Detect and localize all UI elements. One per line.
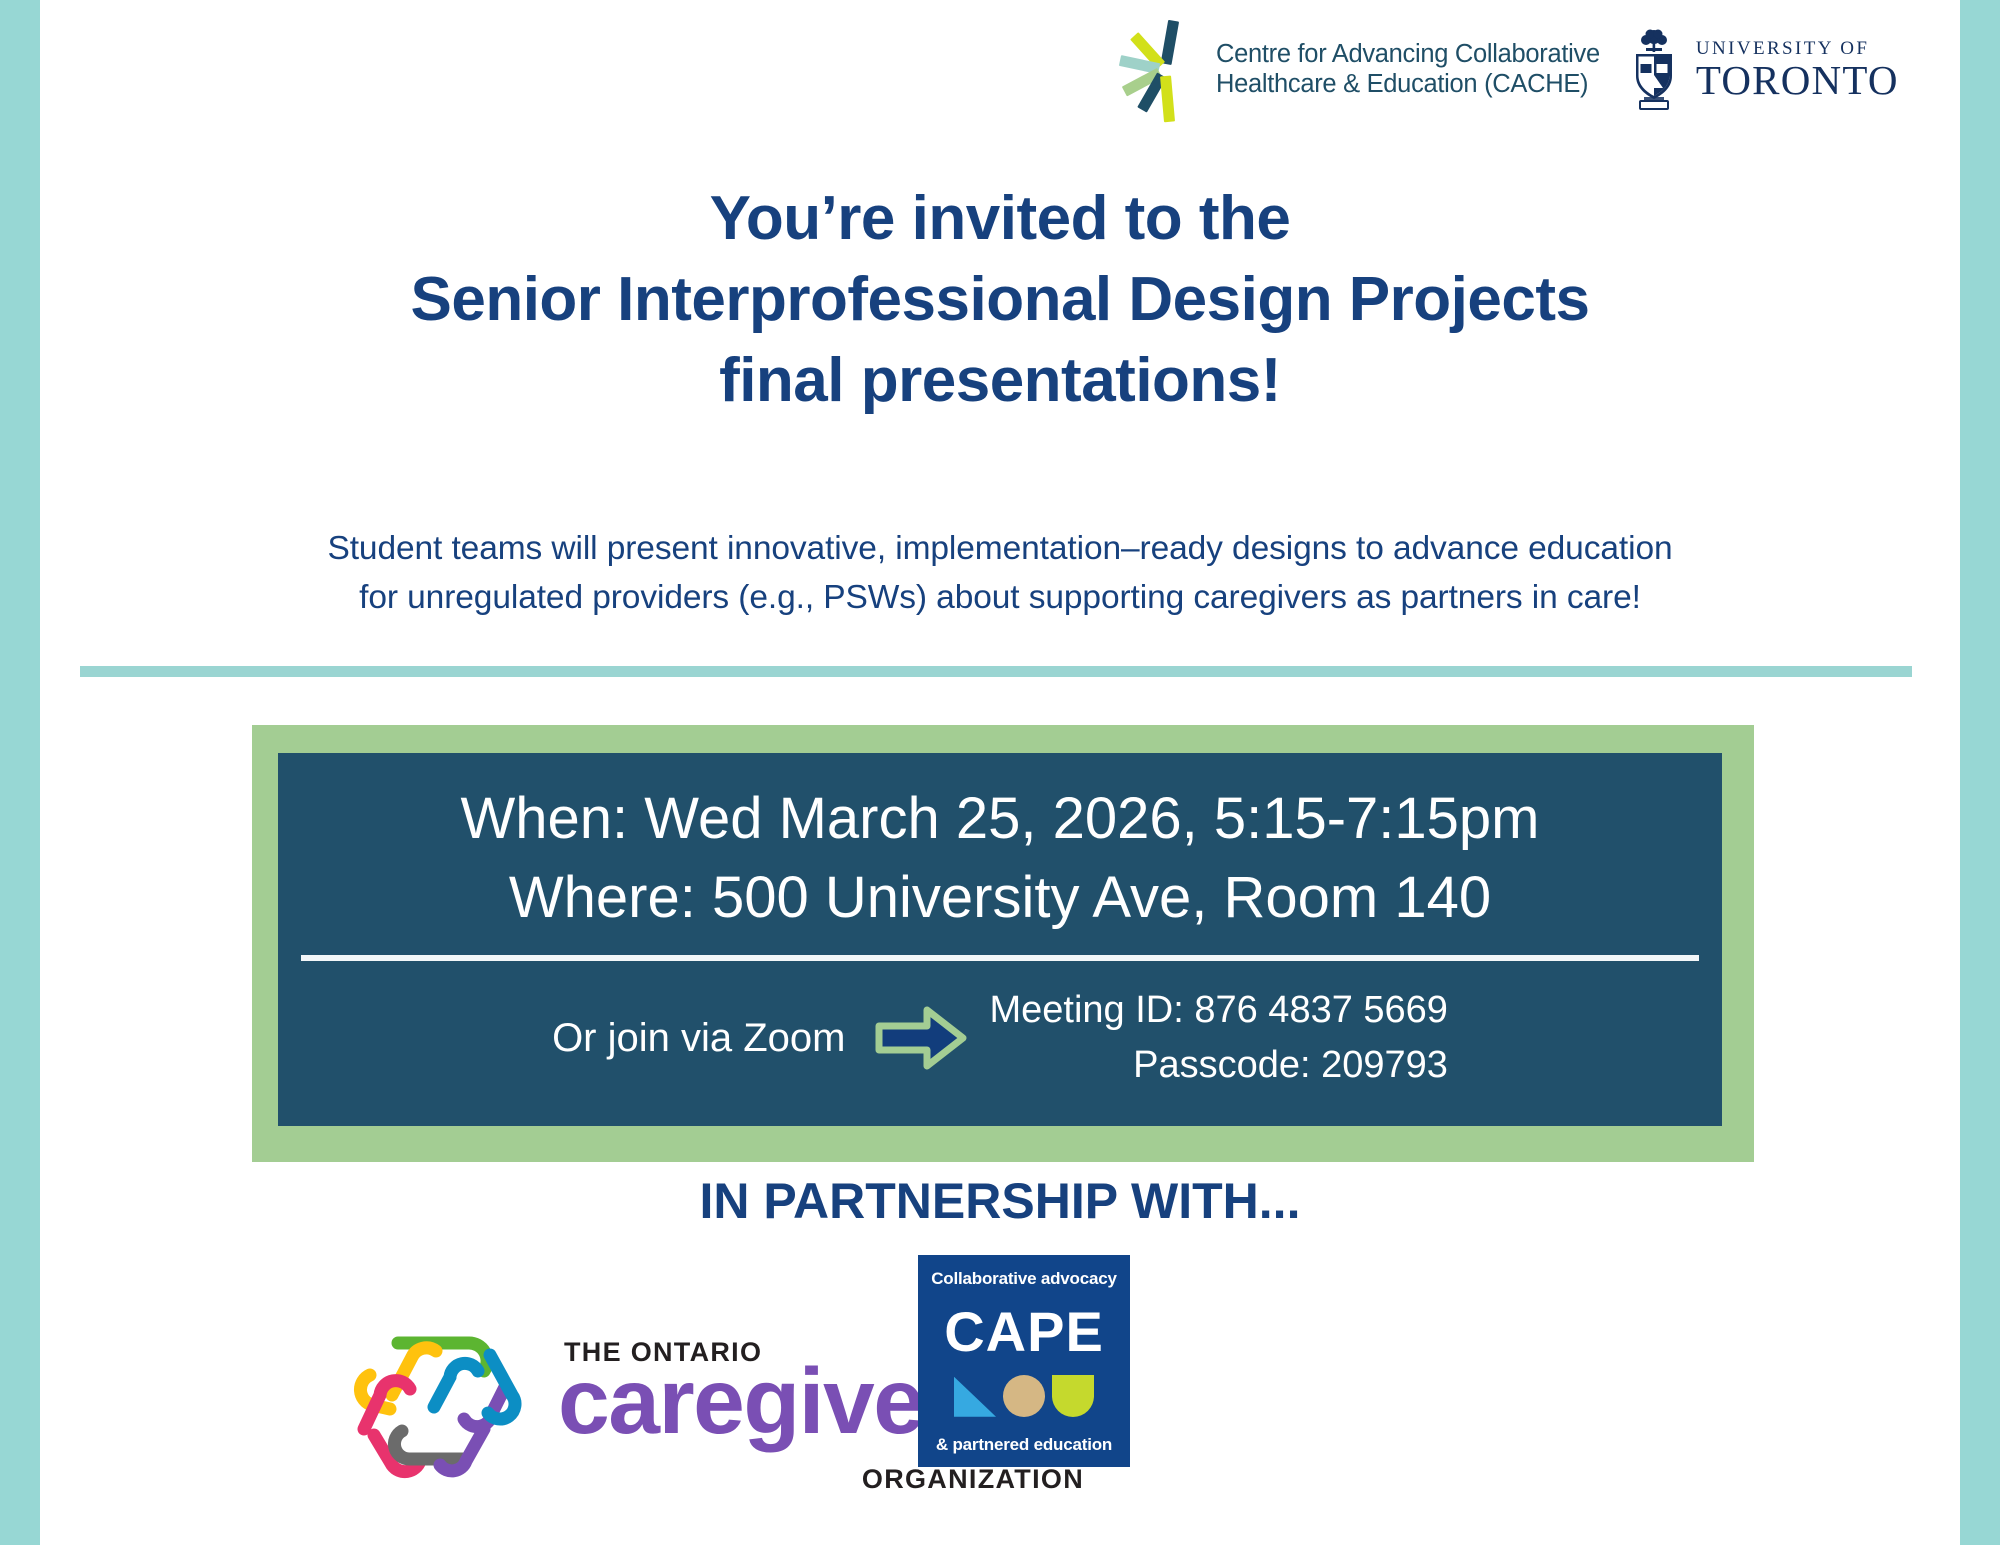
uoft-wordmark: UNIVERSITY OF TORONTO [1696,39,1899,101]
uoft-line-1: UNIVERSITY OF [1696,39,1899,58]
subtitle: Student teams will present innovative, i… [70,525,1930,622]
zoom-credentials: Meeting ID: 876 4837 5669 Passcode: 2097… [989,983,1447,1093]
zoom-join-label: Or join via Zoom [552,1016,845,1061]
uoft-logo: UNIVERSITY OF TORONTO [1626,28,1899,112]
header-logos: Centre for Advancing Collaborative Healt… [1130,14,1960,126]
partner-logos: THE ONTARIO caregiver ORGANIZATION Colla… [330,1255,1490,1525]
uoft-crest-icon [1626,28,1682,112]
right-teal-band [1960,0,2000,1545]
cape-shapes [954,1375,1094,1417]
section-divider [80,666,1912,677]
lime-half-circle-icon [1052,1375,1094,1417]
right-arrow-icon [875,1002,967,1074]
event-when: When: Wed March 25, 2026, 5:15-7:15pm [278,779,1722,858]
page-title: You’re invited to the Senior Interprofes… [60,178,1940,422]
subtitle-line-2: for unregulated providers (e.g., PSWs) a… [70,574,1930,623]
cache-starburst-icon [1130,24,1200,116]
caregiver-organization: ORGANIZATION [862,1464,1084,1495]
uoft-line-2: TORONTO [1696,60,1899,101]
caregiver-name: caregiver [558,1355,958,1448]
cache-logo-text: Centre for Advancing Collaborative Healt… [1216,40,1600,99]
headline-line-3: final presentations! [60,340,1940,421]
zoom-passcode: Passcode: 209793 [989,1038,1447,1093]
zoom-meeting-id: Meeting ID: 876 4837 5669 [989,983,1447,1038]
cache-line-1: Centre for Advancing Collaborative [1216,40,1600,70]
zoom-join-row: Or join via Zoom Meeting ID: 876 4837 56… [278,961,1722,1093]
cape-tagline-top: Collaborative advocacy [931,1269,1117,1289]
cape-tagline-bottom: & partnered education [936,1435,1112,1455]
partnership-heading: IN PARTNERSHIP WITH... [60,1172,1940,1230]
subtitle-line-1: Student teams will present innovative, i… [70,525,1930,574]
event-details-card: When: Wed March 25, 2026, 5:15-7:15pm Wh… [252,725,1754,1162]
headline-line-2: Senior Interprofessional Design Projects [60,259,1940,340]
event-details-inner: When: Wed March 25, 2026, 5:15-7:15pm Wh… [278,753,1722,1126]
headline-line-1: You’re invited to the [60,178,1940,259]
left-teal-band [0,0,40,1545]
event-where: Where: 500 University Ave, Room 140 [278,858,1722,937]
cape-wordmark: CAPE [944,1305,1104,1358]
blue-triangle-icon [954,1377,996,1417]
cape-logo: Collaborative advocacy CAPE & partnered … [918,1255,1130,1467]
event-when-where: When: Wed March 25, 2026, 5:15-7:15pm Wh… [278,753,1722,938]
caregiver-interlocking-hex-icon [340,1315,540,1500]
cache-line-2: Healthcare & Education (CACHE) [1216,70,1600,100]
poster-canvas: Centre for Advancing Collaborative Healt… [0,0,2000,1545]
cache-logo: Centre for Advancing Collaborative Healt… [1130,24,1600,116]
tan-circle-icon [1003,1375,1045,1417]
